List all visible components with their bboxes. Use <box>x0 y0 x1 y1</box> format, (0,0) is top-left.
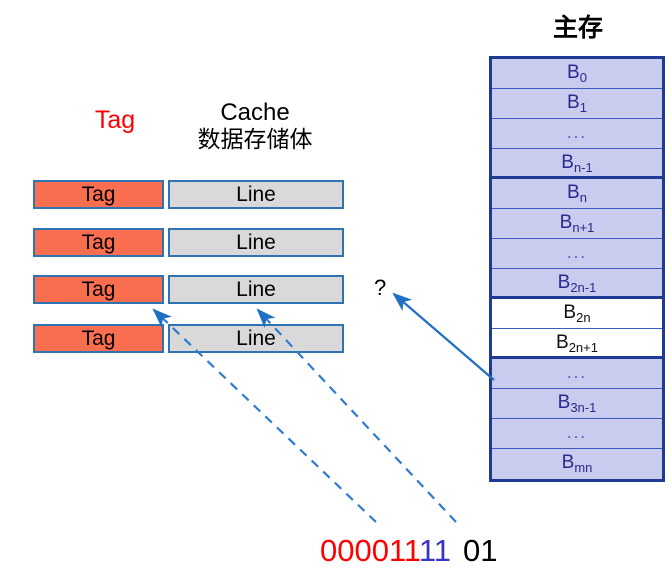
memory-block-subscript: 1 <box>580 100 587 115</box>
memory-block-subscript: n+1 <box>572 220 594 235</box>
cache-tag-box[interactable]: Tag <box>33 228 164 257</box>
cache-line-box[interactable]: Line <box>168 180 344 209</box>
memory-block-subscript: mn <box>574 460 592 475</box>
memory-block-base: B <box>556 332 569 353</box>
memory-block-base: B <box>567 62 580 83</box>
memory-block: ... <box>492 419 662 449</box>
memory-block: ... <box>492 359 662 389</box>
memory-block-base: B <box>562 452 575 473</box>
memory-block-subscript: 0 <box>580 70 587 85</box>
cache-line-box[interactable]: Line <box>168 275 344 304</box>
main-memory-column: B0B1...Bn-1BnBn+1...B2n-1B2nB2n+1...B3n-… <box>489 56 665 482</box>
memory-block: B3n-1 <box>492 389 662 419</box>
memory-block: B2n+1 <box>492 329 662 359</box>
cache-header-line1: Cache <box>220 99 289 126</box>
cache-header-line2: 数据存储体 <box>165 127 345 153</box>
memory-block-base: B <box>563 302 576 323</box>
cache-tag-box[interactable]: Tag <box>33 324 164 353</box>
question-mark-label: ? <box>374 277 386 299</box>
memory-block-base: B <box>567 182 580 203</box>
cache-row: TagLine <box>0 324 360 353</box>
memory-block-subscript: 2n-1 <box>570 280 596 295</box>
memory-block: ... <box>492 119 662 149</box>
memory-block: Bn+1 <box>492 209 662 239</box>
diagram-canvas: Tag Cache 数据存储体 主存 TagLineTagLineTagLine… <box>0 0 672 577</box>
cache-row: TagLine <box>0 228 360 257</box>
memory-block-base: B <box>560 212 573 233</box>
memory-block-subscript: 2n+1 <box>569 340 598 355</box>
address-offset-bits: 01 <box>463 533 497 568</box>
memory-block: Bmn <box>492 449 662 479</box>
memory-block-subscript: n-1 <box>574 160 593 175</box>
memory-block-base: B <box>558 272 571 293</box>
memory-block-base: B <box>561 152 574 173</box>
memory-block: Bn-1 <box>492 149 662 179</box>
memory-block: B2n <box>492 299 662 329</box>
main-memory-title: 主存 <box>492 14 664 42</box>
memory-block-subscript: 2n <box>576 310 590 325</box>
cache-tag-box[interactable]: Tag <box>33 180 164 209</box>
cache-row: TagLine <box>0 180 360 209</box>
cache-line-box[interactable]: Line <box>168 324 344 353</box>
cache-tag-box[interactable]: Tag <box>33 275 164 304</box>
memory-block: B1 <box>492 89 662 119</box>
cache-line-box[interactable]: Line <box>168 228 344 257</box>
memory-block-base: B <box>558 392 571 413</box>
memory-block: B2n-1 <box>492 269 662 299</box>
memory-block-subscript: n <box>580 190 587 205</box>
memory-to-question-arrow <box>394 294 494 380</box>
address-bit-string: 0000111101 <box>320 534 498 568</box>
memory-block-subscript: 3n-1 <box>570 400 596 415</box>
address-tag-bits: 000011 <box>320 533 419 568</box>
address-index-bits: 11 <box>419 533 451 568</box>
memory-block: B0 <box>492 59 662 89</box>
memory-block: ... <box>492 239 662 269</box>
cache-column-header: Cache 数据存储体 <box>165 100 345 153</box>
memory-block: Bn <box>492 179 662 209</box>
tag-column-header: Tag <box>60 106 170 134</box>
cache-row: TagLine <box>0 275 360 304</box>
memory-block-base: B <box>567 92 580 113</box>
